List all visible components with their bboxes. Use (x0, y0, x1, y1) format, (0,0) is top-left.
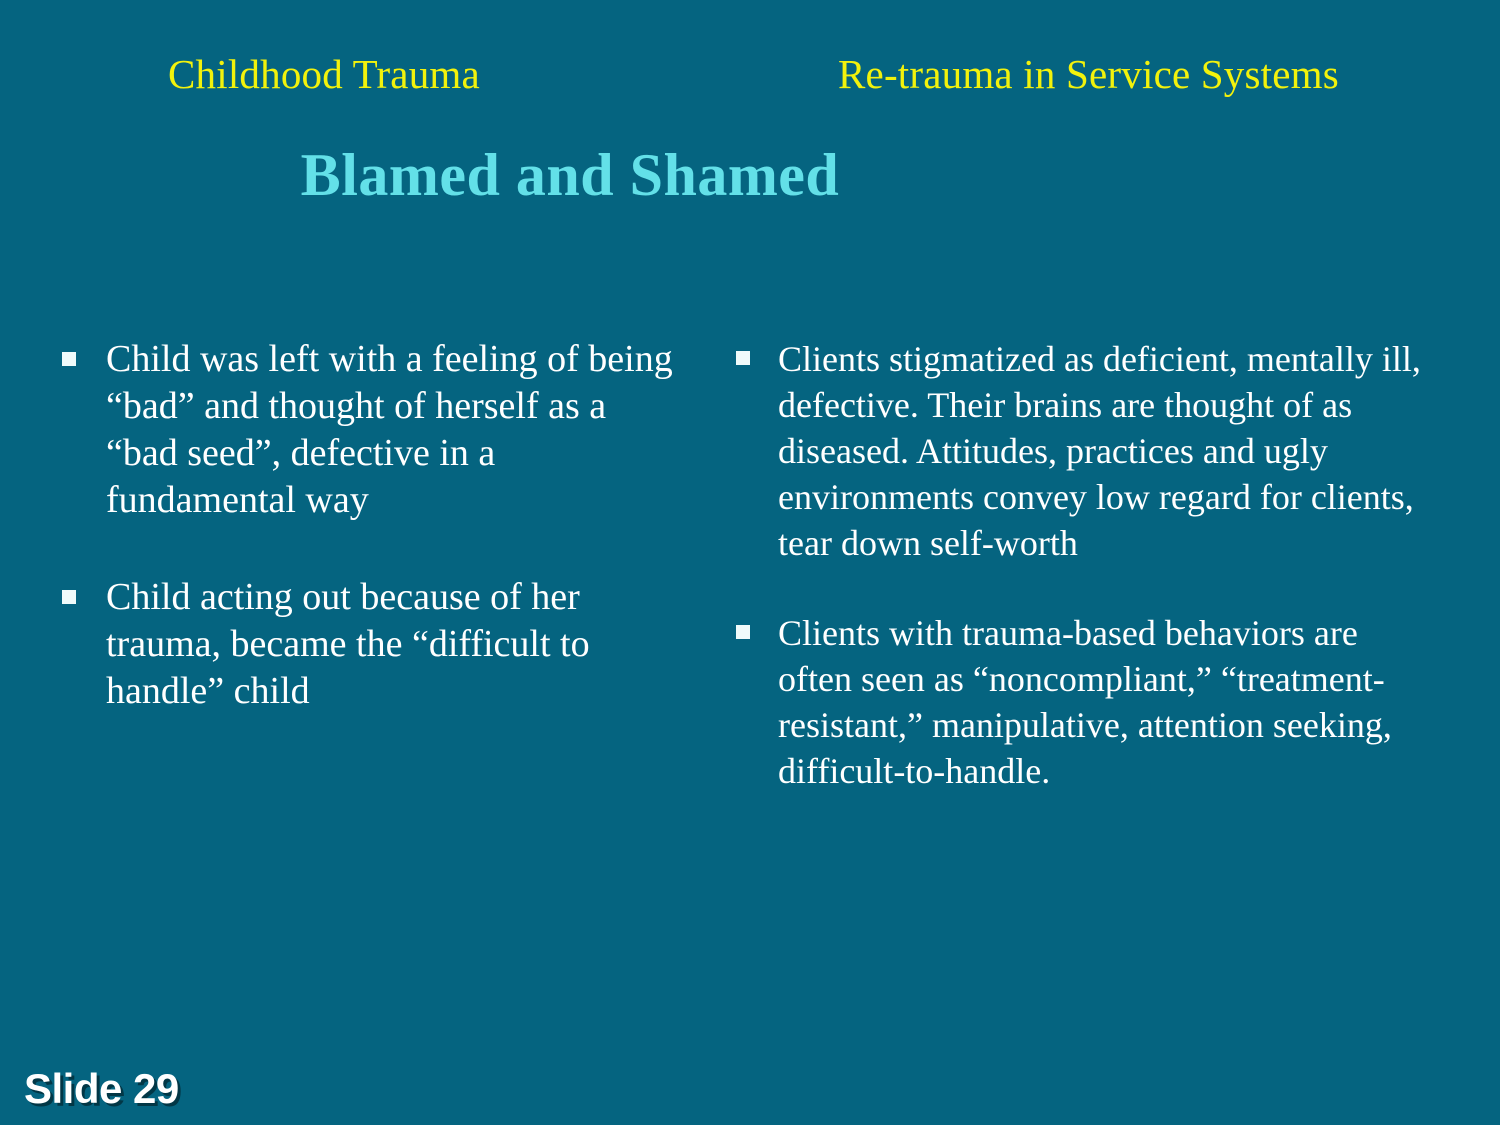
bullet-spacer (56, 524, 676, 574)
list-item: Child was left with a feeling of being “… (56, 336, 676, 524)
bullet-spacer (730, 566, 1440, 610)
slide-header: Childhood Trauma Re-trauma in Service Sy… (0, 50, 1500, 104)
slide-number-label: Slide 29 (24, 1066, 179, 1112)
square-bullet-icon (62, 352, 76, 366)
square-bullet-icon (62, 590, 76, 604)
header-label-childhood-trauma: Childhood Trauma (168, 50, 480, 98)
header-label-re-trauma-in-service-systems: Re-trauma in Service Systems (838, 50, 1339, 98)
list-item: Clients stigmatized as deficient, mental… (730, 336, 1440, 566)
list-item: Clients with trauma-based behaviors are … (730, 610, 1440, 794)
list-item-text: Child acting out because of her trauma, … (106, 576, 590, 712)
slide-canvas: Childhood Trauma Re-trauma in Service Sy… (0, 0, 1500, 1125)
list-item-text: Clients stigmatized as deficient, mental… (778, 339, 1421, 563)
square-bullet-icon (736, 351, 750, 365)
square-bullet-icon (736, 625, 750, 639)
list-item: Child acting out because of her trauma, … (56, 574, 676, 715)
childhood-trauma-column: Child was left with a feeling of being “… (56, 336, 676, 715)
list-item-text: Child was left with a feeling of being “… (106, 338, 673, 521)
re-trauma-column: Clients stigmatized as deficient, mental… (730, 336, 1440, 794)
list-item-text: Clients with trauma-based behaviors are … (778, 613, 1392, 791)
page-title: Blamed and Shamed (0, 142, 1500, 208)
